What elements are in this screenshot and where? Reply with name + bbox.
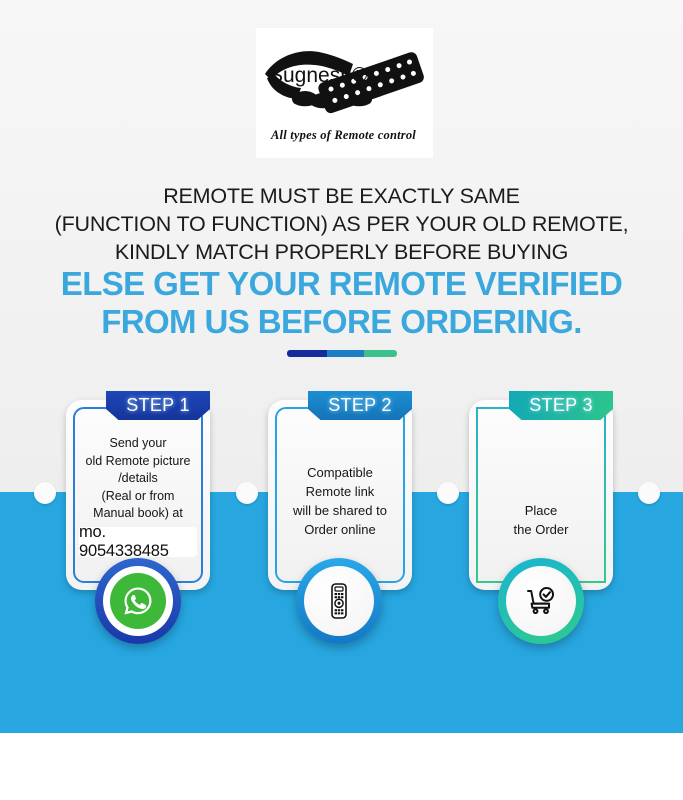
whatsapp-icon-button[interactable]	[95, 558, 181, 644]
bottom-white-background	[0, 733, 683, 800]
hand-holding-remote-icon: Sugnesh®	[257, 28, 432, 128]
logo-wordmark: Sugnesh®	[269, 64, 367, 88]
step-3-banner-label: STEP 3	[529, 395, 593, 416]
remote-icon-button[interactable]	[296, 558, 382, 644]
step-2-line-4: Order online	[285, 520, 395, 539]
whatsapp-icon-face	[103, 566, 173, 636]
step-3-body: Place the Order	[486, 501, 596, 539]
divider-segment-3	[364, 350, 397, 357]
step-card-1-inner: Send your old Remote picture /details (R…	[73, 407, 203, 583]
step-1-line-1: Send your	[83, 435, 193, 453]
emphasis-text: ELSE GET YOUR REMOTE VERIFIED FROM US BE…	[0, 265, 683, 341]
notice-line-2: (FUNCTION TO FUNCTION) AS PER YOUR OLD R…	[0, 210, 683, 238]
promo-poster: Sugnesh® All types of Remote control REM…	[0, 0, 683, 800]
step-3-line-2: the Order	[486, 520, 596, 539]
divider-segment-2	[327, 350, 364, 357]
step-2-body: Compatible Remote link will be shared to…	[285, 463, 395, 539]
section-divider	[287, 350, 397, 357]
whatsapp-number[interactable]: mo. 9054338485	[79, 527, 197, 557]
whatsapp-icon	[110, 573, 166, 629]
cart-check-icon	[521, 581, 561, 621]
step-1-banner: STEP 1	[106, 391, 210, 420]
step-1-body: Send your old Remote picture /details (R…	[83, 435, 193, 523]
brand-logo: Sugnesh® All types of Remote control	[256, 28, 433, 158]
step-2-line-2: Remote link	[285, 482, 395, 501]
remote-control-icon	[319, 581, 359, 621]
step-card-2-inner: Compatible Remote link will be shared to…	[275, 407, 405, 583]
connector-dot-3	[437, 482, 459, 504]
notice-line-1: REMOTE MUST BE EXACTLY SAME	[0, 182, 683, 210]
notice-text: REMOTE MUST BE EXACTLY SAME (FUNCTION TO…	[0, 182, 683, 266]
connector-dot-1	[34, 482, 56, 504]
step-1-line-3: /details	[83, 470, 193, 488]
step-2-banner: STEP 2	[308, 391, 412, 420]
logo-tagline: All types of Remote control	[256, 128, 431, 143]
step-3-banner: STEP 3	[509, 391, 613, 420]
step-1-line-2: old Remote picture	[83, 453, 193, 471]
step-2-line-1: Compatible	[285, 463, 395, 482]
step-3-line-1: Place	[486, 501, 596, 520]
step-1-banner-label: STEP 1	[126, 395, 190, 416]
divider-segment-1	[287, 350, 327, 357]
step-card-3-inner: Place the Order	[476, 407, 606, 583]
step-2-banner-label: STEP 2	[328, 395, 392, 416]
step-1-line-5: Manual book) at	[83, 505, 193, 523]
cart-icon-face	[506, 566, 576, 636]
cart-icon-button[interactable]	[498, 558, 584, 644]
remote-icon-face	[304, 566, 374, 636]
notice-line-3: KINDLY MATCH PROPERLY BEFORE BUYING	[0, 238, 683, 266]
connector-dot-2	[236, 482, 258, 504]
step-2-line-3: will be shared to	[285, 501, 395, 520]
emphasis-line-2: FROM US BEFORE ORDERING.	[0, 303, 683, 341]
step-1-line-4: (Real or from	[83, 488, 193, 506]
emphasis-line-1: ELSE GET YOUR REMOTE VERIFIED	[0, 265, 683, 303]
connector-dot-4	[638, 482, 660, 504]
